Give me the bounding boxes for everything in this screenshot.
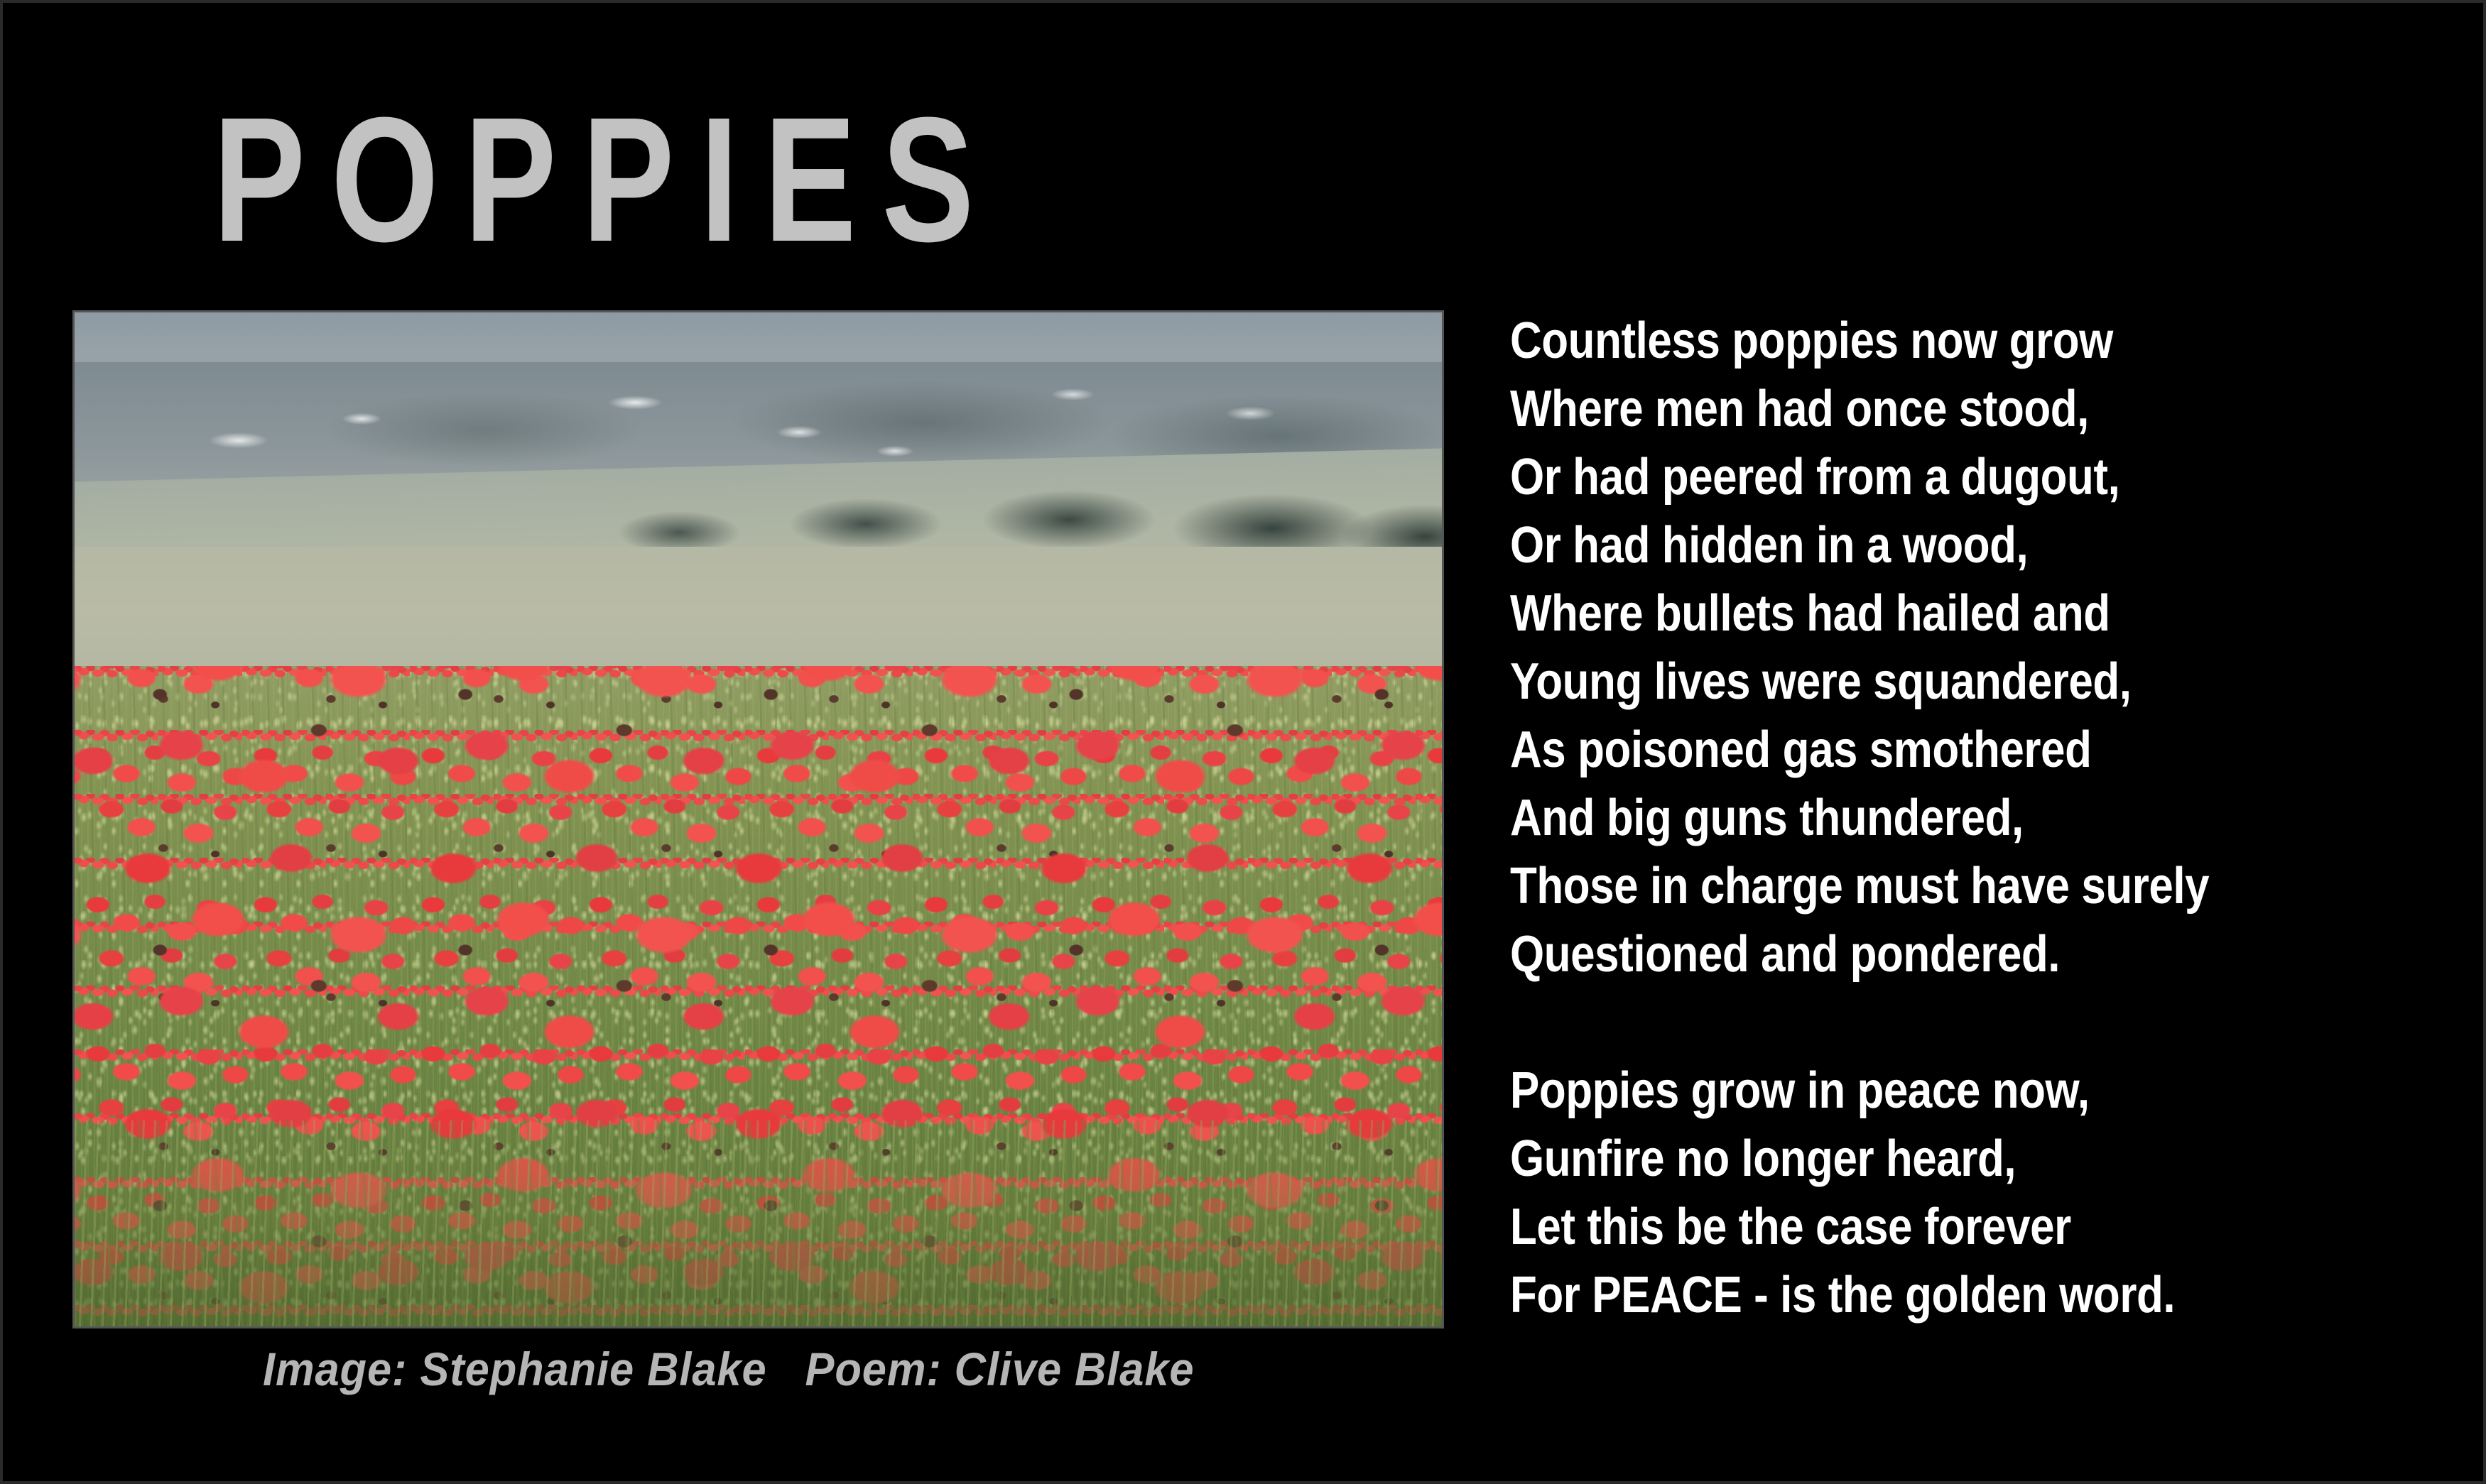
poem-line: And big guns thundered, [1510, 784, 2316, 852]
poem-line: Where men had once stood, [1510, 375, 2316, 443]
poppies-poster: POPPIES Image: Stephanie Blake Poem: Cli… [0, 0, 2486, 1484]
poem-line: Gunfire no longer heard, [1510, 1125, 2316, 1193]
poem-line: Poppies grow in peace now, [1510, 1057, 2316, 1125]
poem-line: Or had peered from a dugout, [1510, 443, 2316, 511]
poem-line: Questioned and pondered. [1510, 920, 2316, 988]
poem-line: Or had hidden in a wood, [1510, 511, 2316, 579]
poem-line: Those in charge must have surely [1510, 852, 2316, 920]
poem-line: As poisoned gas smothered [1510, 716, 2316, 784]
page-title: POPPIES [213, 91, 999, 268]
poem-line: Where bullets had hailed and [1510, 579, 2316, 648]
poppy-field-photo [75, 312, 1442, 1326]
poem-line: Countless poppies now grow [1510, 307, 2316, 375]
poem-block: Countless poppies now grow Where men had… [1510, 307, 2448, 1329]
photo-canvas [75, 312, 1442, 1326]
poppy-meadow [75, 666, 1442, 1326]
foreground-grass [75, 1120, 1442, 1326]
credit-line: Image: Stephanie Blake Poem: Clive Blake [263, 1342, 1194, 1396]
stanza-break [1510, 988, 2316, 1057]
poem-line: For PEACE - is the golden word. [1510, 1261, 2316, 1329]
poem-line: Young lives were squandered, [1510, 648, 2316, 716]
poem-line: Let this be the case forever [1510, 1193, 2316, 1261]
